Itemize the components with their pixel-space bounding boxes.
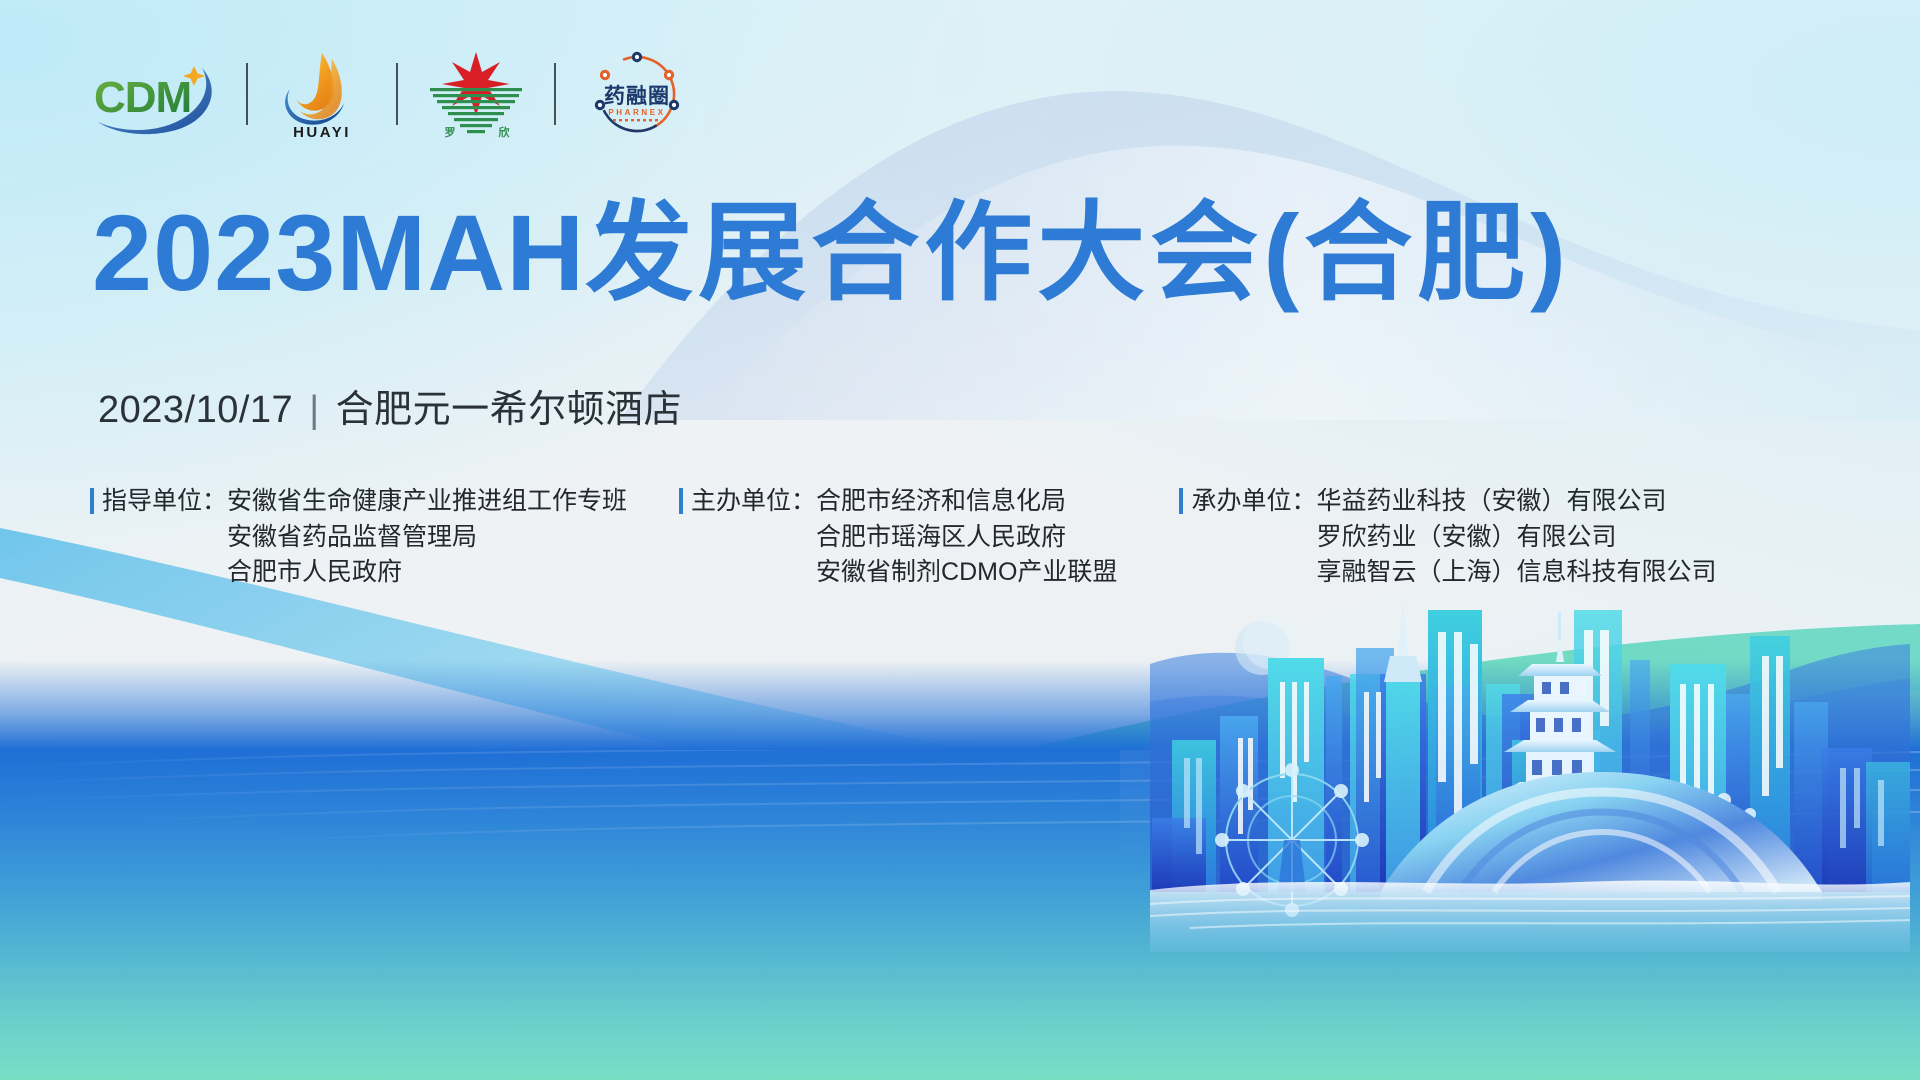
list-item: 安徽省生命健康产业推进组工作专班 <box>227 484 627 520</box>
organizer-label: 承办单位： <box>1191 484 1316 520</box>
svg-text:CDM: CDM <box>94 73 191 122</box>
huayi-logo[interactable]: HUAYI <box>274 48 370 140</box>
title-latin: MAH <box>336 192 585 313</box>
event-date: 2023/10/17 <box>98 389 293 431</box>
conference-poster: CDM <box>0 0 1920 1080</box>
svg-text:欣: 欣 <box>499 125 511 138</box>
spacer <box>627 484 679 591</box>
logo-separator <box>396 63 398 125</box>
list-item: 华益药业科技（安徽）有限公司 <box>1316 484 1716 520</box>
title-cjk: 发展合作大会(合肥) <box>585 192 1571 313</box>
list-item: 合肥市经济和信息化局 <box>816 484 1117 520</box>
event-venue: 合肥元一希尔顿酒店 <box>336 389 683 431</box>
cdm-logo[interactable]: CDM <box>90 48 220 140</box>
luoxin-logo[interactable]: 罗 欣 <box>424 48 528 140</box>
list-item: 安徽省制剂CDMO产业联盟 <box>816 555 1117 591</box>
list-item: 安徽省药品监督管理局 <box>227 520 627 556</box>
svg-text:HUAYI: HUAYI <box>293 124 351 139</box>
subtitle-divider: | <box>293 389 335 431</box>
accent-bar <box>90 488 94 514</box>
organizer-block-guidance: 指导单位： 安徽省生命健康产业推进组工作专班 安徽省药品监督管理局 合肥市人民政… <box>90 484 627 591</box>
logo-separator <box>246 63 248 125</box>
event-datetime-venue: 2023/10/17|合肥元一希尔顿酒店 <box>98 378 682 433</box>
organizer-label: 主办单位： <box>691 484 816 520</box>
svg-text:PHARNEX: PHARNEX <box>608 108 665 117</box>
title-year: 2023 <box>92 192 336 313</box>
list-item: 罗欣药业（安徽）有限公司 <box>1316 520 1716 556</box>
list-item: 合肥市人民政府 <box>227 555 627 591</box>
list-item: 合肥市瑶海区人民政府 <box>816 520 1117 556</box>
accent-bar <box>1179 488 1183 514</box>
logo-separator <box>554 63 556 125</box>
pharnexcloud-logo[interactable]: 药融圈 PHARNEX <box>582 48 692 140</box>
svg-text:罗: 罗 <box>445 126 456 138</box>
page-title: 2023MAH发展合作大会(合肥) <box>92 196 1571 310</box>
accent-bar <box>679 488 683 514</box>
organizer-block-host: 主办单位： 合肥市经济和信息化局 合肥市瑶海区人民政府 安徽省制剂CDMO产业联… <box>679 484 1117 591</box>
hefei-city-skyline <box>1150 552 1910 952</box>
sponsor-logo-bar: CDM <box>90 48 692 140</box>
organizer-label: 指导单位： <box>102 484 227 520</box>
organizer-list: 合肥市经济和信息化局 合肥市瑶海区人民政府 安徽省制剂CDMO产业联盟 <box>816 484 1117 591</box>
svg-text:药融圈: 药融圈 <box>604 84 670 108</box>
organizer-list: 安徽省生命健康产业推进组工作专班 安徽省药品监督管理局 合肥市人民政府 <box>227 484 627 591</box>
